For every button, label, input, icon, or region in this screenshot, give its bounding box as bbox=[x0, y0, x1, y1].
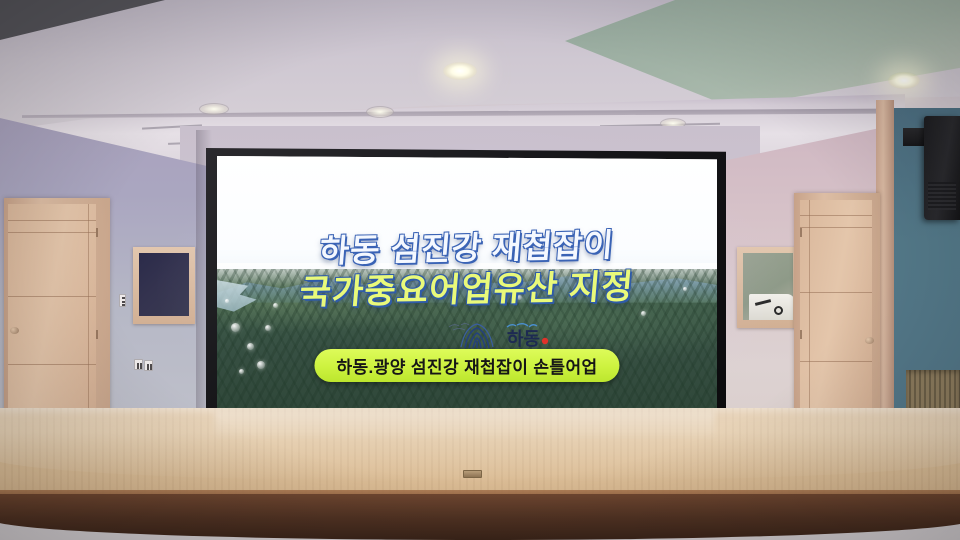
ceiling-downlight bbox=[199, 103, 229, 115]
door-hinge bbox=[96, 228, 98, 237]
bokeh-bubble bbox=[257, 361, 265, 369]
led-display-screen[interactable]: 하동 bbox=[217, 156, 717, 412]
floor-outlet-plate[interactable] bbox=[463, 470, 482, 478]
door-panel-line bbox=[800, 227, 872, 228]
speaker-grille-icon bbox=[928, 182, 956, 210]
slide-title-block: 하동 섬진강 재첩잡이 국가중요어업유산 지정 bbox=[217, 232, 717, 307]
door-panel-line bbox=[8, 220, 96, 221]
power-outlet-plate[interactable] bbox=[134, 359, 143, 370]
slide-title-line-1: 하동 섬진강 재첩잡이 bbox=[318, 229, 615, 267]
room-scene: 하동 bbox=[0, 0, 960, 540]
door-panel-line bbox=[8, 232, 96, 233]
door-panel-line bbox=[800, 215, 872, 216]
power-outlet-plate[interactable] bbox=[144, 360, 153, 371]
poster-mark-icon bbox=[774, 306, 783, 315]
wall-speaker bbox=[924, 116, 960, 220]
light-switch-plate[interactable] bbox=[119, 294, 126, 307]
door-hinge bbox=[800, 330, 802, 339]
slide-title-line-2: 국가중요어업유산 지정 bbox=[299, 270, 636, 310]
stage-edge-trim bbox=[0, 494, 960, 540]
interior-window-left bbox=[139, 253, 189, 316]
door-left-knob[interactable] bbox=[10, 327, 19, 334]
door-panel-line bbox=[8, 364, 96, 365]
door-panel-line bbox=[800, 292, 872, 293]
ceiling-downlight bbox=[443, 62, 477, 80]
bokeh-bubble bbox=[231, 323, 240, 332]
slide-subtitle-pill: 하동.광양 섬진강 재첩잡이 손틀어업 bbox=[314, 349, 619, 382]
door-panel-line bbox=[8, 296, 96, 297]
bokeh-bubble bbox=[265, 325, 271, 331]
bokeh-bubble bbox=[239, 369, 244, 374]
door-panel-line bbox=[800, 361, 872, 362]
door-hinge bbox=[96, 330, 98, 339]
svg-text:하동: 하동 bbox=[507, 329, 540, 349]
door-hinge bbox=[800, 228, 802, 237]
door-right-knob[interactable] bbox=[865, 337, 874, 344]
ceiling-downlight bbox=[366, 106, 394, 118]
ceiling-downlight bbox=[888, 72, 920, 89]
interior-window-right bbox=[743, 253, 793, 320]
bokeh-bubble bbox=[641, 311, 646, 316]
bokeh-bubble bbox=[247, 343, 254, 350]
window-poster bbox=[749, 294, 793, 320]
slide-subtitle-text: 하동.광양 섬진강 재첩잡이 손틀어업 bbox=[336, 353, 597, 378]
